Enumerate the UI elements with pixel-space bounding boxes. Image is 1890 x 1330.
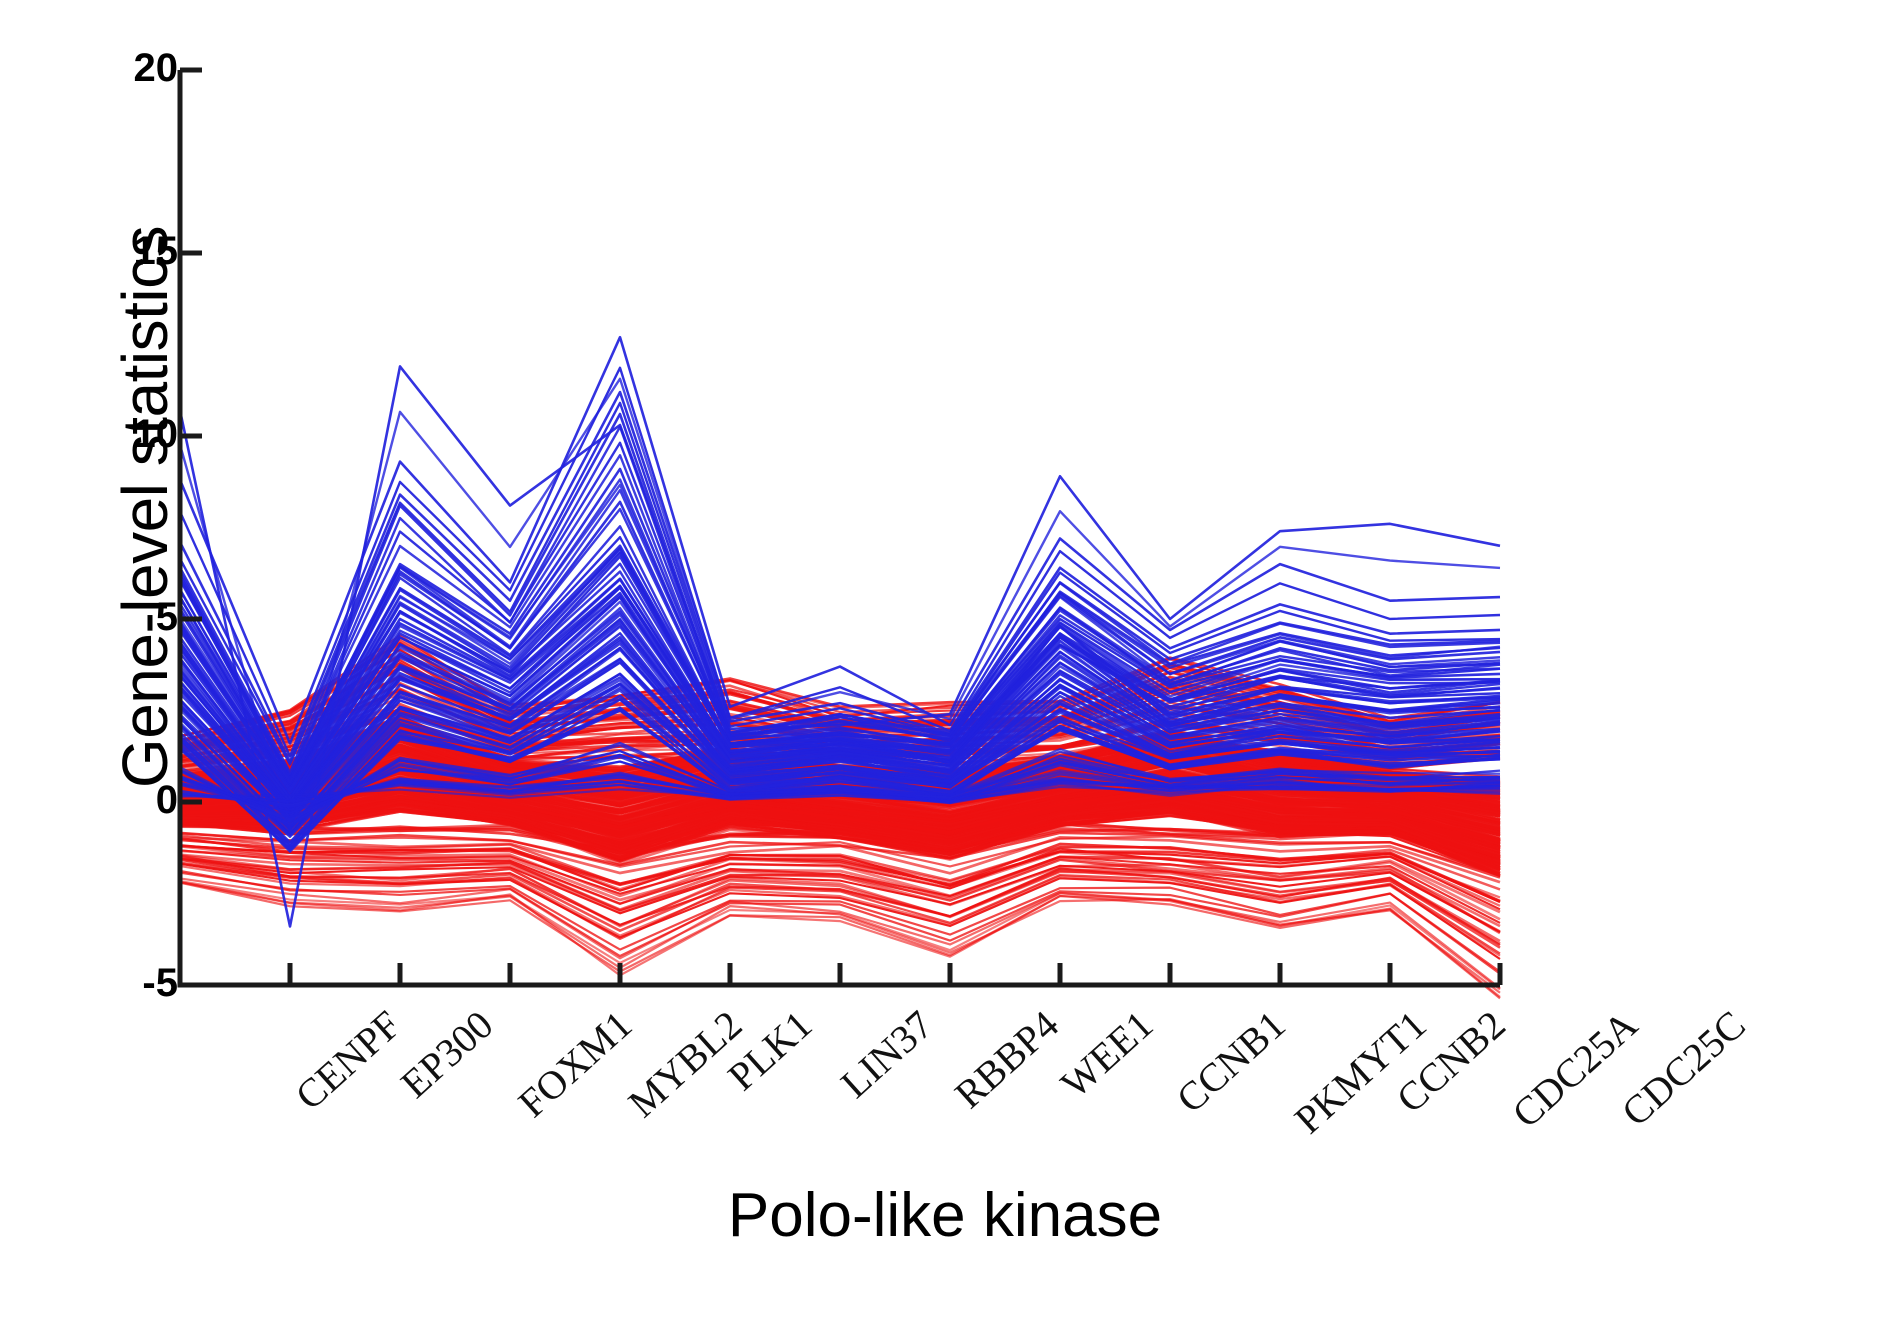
y-tick-label-20: 20 xyxy=(58,48,178,88)
y-tick-label-0: 0 xyxy=(58,780,178,820)
parallel-coordinates-svg xyxy=(180,70,1500,985)
x-tick-label-ccnb1: CCNB1 xyxy=(1167,1001,1294,1122)
y-tick-label--5: -5 xyxy=(58,963,178,1003)
x-tick-label-cenpf: CENPF xyxy=(286,1001,410,1119)
x-tick-label-plk1: PLK1 xyxy=(719,1001,821,1100)
data-lines-group xyxy=(180,337,1500,998)
x-tick-label-rbbp4: RBBP4 xyxy=(945,1001,1067,1118)
x-axis-title: Polo-like kinase xyxy=(0,1180,1890,1251)
x-tick-label-wee1: WEE1 xyxy=(1051,1001,1162,1107)
figure-canvas: Gene-level statistics 20 15 10 5 0 -5 CE… xyxy=(0,0,1890,1330)
y-tick-label-15: 15 xyxy=(58,231,178,271)
x-tick-label-lin37: LIN37 xyxy=(831,1001,942,1107)
x-tick-label-cdc25a: CDC25A xyxy=(1503,1001,1647,1137)
y-tick-label-10: 10 xyxy=(58,414,178,454)
x-tick-label-ep300: EP300 xyxy=(391,1001,502,1107)
x-axis-tick-marks xyxy=(180,963,1500,985)
plot-area xyxy=(180,70,1500,985)
y-tick-label-5: 5 xyxy=(58,597,178,637)
x-tick-label-foxm1: FOXM1 xyxy=(509,1001,641,1127)
